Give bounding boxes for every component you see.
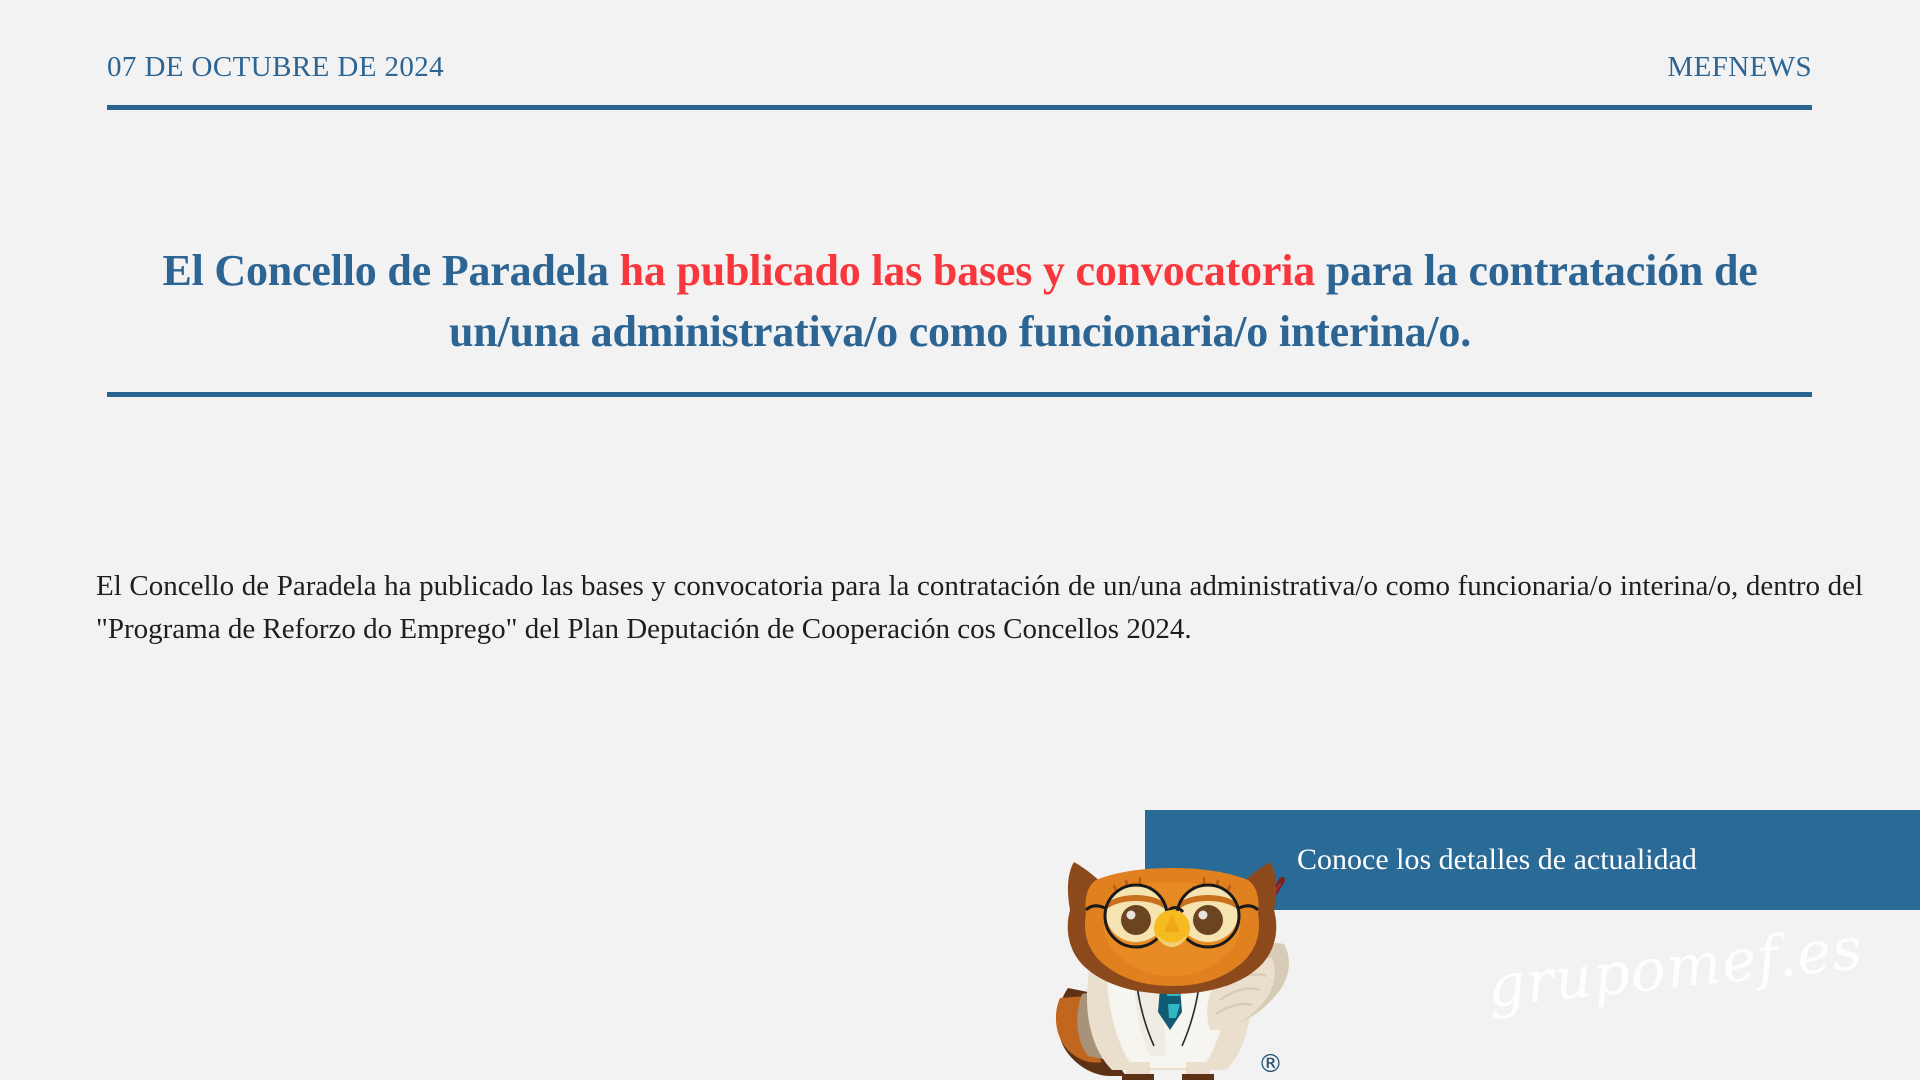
header: 07 DE OCTUBRE DE 2024 MEFNEWS — [107, 50, 1812, 92]
page-title: El Concello de Paradela ha publicado las… — [140, 240, 1780, 362]
header-date: 07 DE OCTUBRE DE 2024 — [107, 50, 444, 84]
header-brand: MEFNEWS — [1667, 50, 1812, 84]
newsletter-page: 07 DE OCTUBRE DE 2024 MEFNEWS El Concell… — [0, 0, 1920, 1080]
registered-trademark-icon: ® — [1258, 1051, 1283, 1076]
professor-owl-mascot-icon — [1030, 848, 1360, 1080]
brand-watermark: grupomef.es — [1485, 916, 1866, 1019]
headline-highlight: ha publicado las bases y convocatoria — [620, 246, 1315, 295]
header-divider-rule — [107, 105, 1812, 110]
article-paragraph: El Concello de Paradela ha publicado las… — [96, 565, 1863, 651]
headline-part-one: El Concello de Paradela — [162, 246, 619, 295]
title-divider-rule — [107, 392, 1812, 397]
